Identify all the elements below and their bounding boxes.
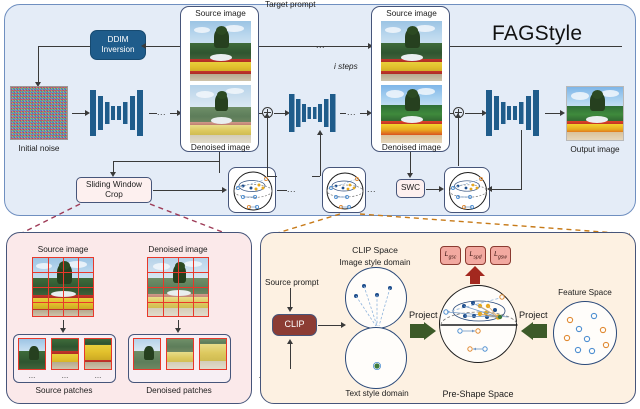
source-image-thumb-2 [381, 21, 442, 81]
ddim-inversion-box[interactable]: DDIM Inversion [90, 30, 146, 60]
denoised-patch-tray: ... ... ... [128, 334, 231, 383]
output-image-label: Output image [570, 145, 619, 154]
unet1-out-line [149, 113, 157, 114]
swc-to-sphere1-arrow [222, 187, 227, 193]
source-image-label-2: Source image [386, 9, 437, 18]
target-prompt-line [290, 343, 291, 369]
sliding-window-crop-box[interactable]: Sliding Window Crop [76, 177, 152, 203]
source-patch-dots-3: ... [95, 371, 102, 380]
bus-tap-line-2 [330, 46, 370, 47]
project-left-label: Project [409, 310, 438, 321]
denoised-image-thumb-2 [381, 85, 442, 143]
swc-box-label: SWC [401, 183, 420, 193]
source-patch-dots-2: ... [62, 371, 69, 380]
bus-stub [621, 46, 622, 47]
clip-box[interactable]: CLIP [272, 314, 317, 336]
loss-3-subscript: gsw [498, 254, 507, 260]
figure-title: FAGStyle [492, 22, 582, 46]
text-style-domain-circle [345, 327, 407, 389]
figure-root: FAGStyle DDIM Inversion Initial noise [0, 0, 640, 409]
loss-box-2: Lspd [465, 246, 486, 265]
swc-box[interactable]: SWC [396, 179, 425, 198]
bl-denoised-image-label: Denoised image [148, 245, 207, 254]
text-style-domain-label: Text style domain [345, 389, 408, 398]
source-image-grid [32, 257, 94, 317]
source-patch-1 [18, 338, 46, 370]
ddim-feedback-arrow [141, 43, 146, 49]
swc-line-1: Sliding Window [86, 180, 142, 190]
noise-to-unet-line [72, 113, 86, 114]
clip-out-line [318, 325, 342, 326]
source-patch-tray: ... ... ... [13, 334, 116, 383]
card1-down-hline [113, 161, 220, 162]
source-patch-dots-1: ... [29, 371, 36, 380]
unet3-out-arrow [560, 110, 565, 116]
unet-block-1 [90, 88, 148, 138]
source-patch-2 [51, 338, 79, 370]
unet3-out-line [545, 113, 561, 114]
sphere-to-unet2-line [320, 134, 321, 176]
add2-down-line [458, 118, 459, 166]
ddim-line-1: DDIM [101, 35, 134, 45]
denoised-patch-3 [199, 338, 227, 370]
src-grid-down-arrow [60, 328, 66, 333]
swc-to-sphere3-line [426, 189, 440, 190]
loss-1-subscript: gsc [449, 254, 457, 260]
clip-box-label: CLIP [284, 319, 304, 330]
sphere1-out-line [277, 190, 287, 191]
loss-2-subscript: spd [473, 254, 481, 260]
pre-shape-space-label: Pre-Shape Space [442, 389, 513, 399]
denoised-image-thumb-1 [190, 85, 251, 143]
source-prompt-arrow [287, 307, 293, 312]
source-prompt-label: Source prompt [265, 278, 319, 287]
target-prompt-label: Target prompt [265, 0, 316, 9]
den-grid-down-arrow [175, 328, 181, 333]
ddim-out-hline [38, 46, 90, 47]
source-image-label-1: Source image [195, 9, 246, 18]
initial-noise-image [10, 86, 68, 140]
card1-to-add1 [259, 113, 263, 114]
bl-source-image-label: Source image [38, 245, 89, 254]
denoised-image-grid [147, 257, 209, 317]
target-prompt-arrow [287, 339, 293, 344]
source-image-thumb-1 [190, 21, 251, 81]
swc-to-sphere1-line [153, 190, 223, 191]
unet2-ellipsis: ... [347, 107, 356, 117]
image-style-domain-label: Image style domain [340, 258, 411, 267]
denoised-image-label-1: Denoised image [191, 143, 250, 152]
card2-down-line [410, 152, 411, 174]
image-style-domain-circle [345, 267, 407, 329]
add1-down-line [267, 118, 268, 176]
bus-tap-line [303, 46, 315, 47]
sphere-to-unet2-arrow [317, 130, 323, 135]
sphere3-in-arrow [487, 186, 492, 192]
output-image [566, 86, 624, 141]
ddim-line-2: Inversion [101, 45, 134, 55]
feature-space-label: Feature Space [558, 288, 612, 297]
sphere2-left-stub [312, 176, 320, 177]
project-left-arrow [410, 322, 436, 340]
unet-block-2 [289, 92, 339, 134]
sphere3-right-line [491, 189, 522, 190]
sphere3-feedback-vline [521, 130, 522, 190]
denoised-patch-1 [133, 338, 161, 370]
ddim-out-vline [38, 46, 39, 83]
clip-space-label: CLIP Space [352, 246, 398, 256]
card2-to-add2 [450, 113, 454, 114]
project-right-arrow [521, 322, 547, 340]
feature-space-circle [553, 301, 617, 365]
add1-up-arrow [264, 113, 270, 118]
initial-noise-label: Initial noise [19, 144, 60, 153]
source-patch-3 [84, 338, 112, 370]
project-right-label: Project [519, 310, 548, 321]
loss-up-arrow [464, 266, 486, 284]
denoised-patches-label: Denoised patches [146, 386, 212, 395]
pre-shape-sphere-2 [322, 167, 366, 213]
card1-down-line [219, 152, 220, 173]
add2-up-arrow [455, 113, 461, 118]
swc-line-2: Crop [86, 190, 142, 200]
i-steps-label: i steps [334, 62, 358, 71]
sphere-ellipsis-1: ... [287, 184, 296, 194]
denoised-image-label-2: Denoised image [382, 143, 441, 152]
source-prompt-line [290, 288, 291, 308]
pre-shape-space-sphere [439, 285, 517, 363]
pre-shape-sphere-3 [444, 167, 490, 213]
loss-box-1: Lgsc [440, 246, 461, 265]
unet-block-3 [486, 88, 544, 138]
add2-out-line [465, 113, 483, 114]
image-card-1: Source image Denoised image [180, 6, 259, 152]
denoised-patch-2 [166, 338, 194, 370]
add1-branch-line [267, 176, 277, 177]
pre-shape-sphere-1 [228, 167, 276, 213]
loss-box-3: Lgsw [490, 246, 511, 265]
unet1-ellipsis: ... [157, 107, 166, 117]
unet2-out-line [340, 113, 346, 114]
image-card-2: Source image Denoised image [371, 6, 450, 152]
bus-ellipsis: ... [316, 40, 325, 50]
sphere-ellipsis-2: ... [367, 184, 376, 194]
card2-down-arrow [407, 173, 413, 178]
source-patches-label: Source patches [36, 386, 93, 395]
